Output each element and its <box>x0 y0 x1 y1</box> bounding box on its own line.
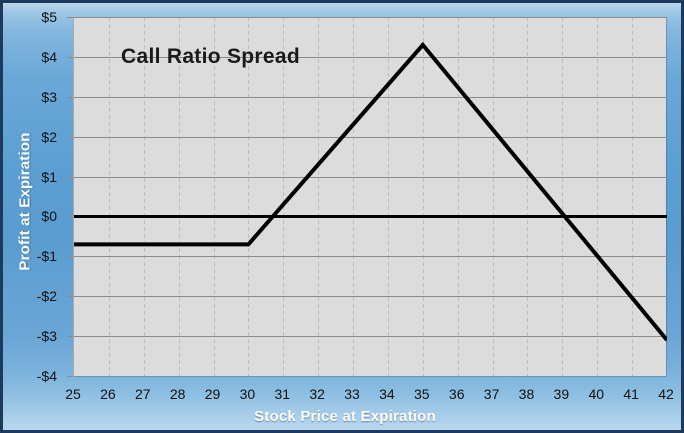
y-axis-tick-label: $3 <box>41 89 57 105</box>
y-axis-tick-label: -$2 <box>37 288 57 304</box>
chart-screenshot: $5$4$3$2$1$0-$1-$2-$3-$4 Profit at Expir… <box>0 0 684 433</box>
y-axis-tick-label: $4 <box>41 49 57 65</box>
x-axis-tick-label: 32 <box>309 386 325 402</box>
payoff-line <box>74 45 667 340</box>
x-axis-tick-label: 37 <box>484 386 500 402</box>
x-axis-tick-label: 35 <box>414 386 430 402</box>
x-axis-tick-label: 33 <box>344 386 360 402</box>
chart-title: Call Ratio Spread <box>121 45 300 69</box>
x-axis-tick-label: 27 <box>135 386 151 402</box>
x-axis-tick-label: 40 <box>588 386 604 402</box>
y-axis-tick-label: $2 <box>41 129 57 145</box>
grid-minor-vertical <box>110 17 668 376</box>
x-axis-tick-label: 34 <box>379 386 395 402</box>
x-axis-tick-label: 29 <box>205 386 221 402</box>
y-axis-title: Profit at Expiration <box>17 102 34 302</box>
x-axis-tick-label: 36 <box>449 386 465 402</box>
x-axis-tick-label: 38 <box>519 386 535 402</box>
x-axis-tick-label: 26 <box>100 386 116 402</box>
x-axis-tick-label: 31 <box>274 386 290 402</box>
y-axis-tick-label: $1 <box>41 169 57 185</box>
plot-area <box>73 17 666 376</box>
x-axis-tick-label: 39 <box>554 386 570 402</box>
x-axis-tick-labels: 252627282930313233343536373839404142 <box>3 376 684 406</box>
x-axis-tick-label: 28 <box>170 386 186 402</box>
y-axis-tick-label: $5 <box>41 9 57 25</box>
chart-frame: $5$4$3$2$1$0-$1-$2-$3-$4 Profit at Expir… <box>0 0 684 433</box>
y-axis-tick-label: -$3 <box>37 328 57 344</box>
x-axis-tick-label: 30 <box>240 386 256 402</box>
grid-major-horizontal <box>74 18 667 377</box>
y-axis-tick-labels: $5$4$3$2$1$0-$1-$2-$3-$4 <box>3 3 67 433</box>
x-axis-tick-label: 42 <box>658 386 674 402</box>
y-axis-tick-label: -$1 <box>37 248 57 264</box>
x-axis-title: Stock Price at Expiration <box>3 408 684 425</box>
y-axis-tick-label: $0 <box>41 208 57 224</box>
x-axis-tick-label: 41 <box>623 386 639 402</box>
x-axis-tick-label: 25 <box>65 386 81 402</box>
plot-svg <box>74 17 667 376</box>
